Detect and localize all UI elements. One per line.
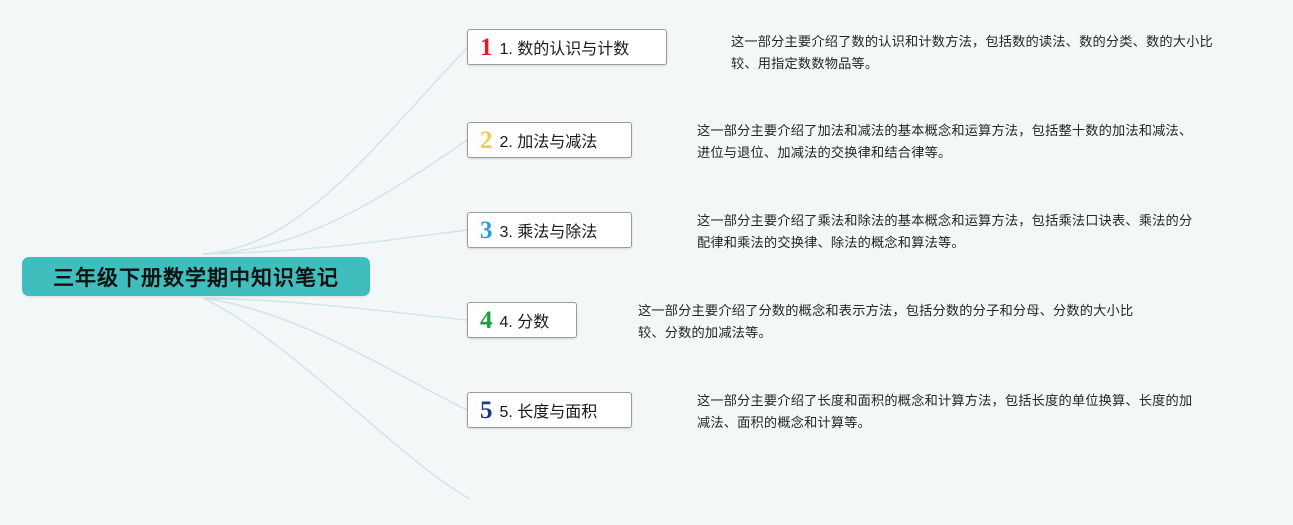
- branch-label-3: 3. 乘法与除法: [500, 218, 598, 242]
- edge-to-branch-6: [203, 298, 470, 499]
- edge-to-branch-1: [203, 48, 467, 254]
- branch-description-1: 这一部分主要介绍了数的认识和计数方法，包括数的读法、数的分类、数的大小比较、用指…: [731, 31, 1236, 75]
- branch-description-4: 这一部分主要介绍了分数的概念和表示方法，包括分数的分子和分母、分数的大小比较、分…: [638, 300, 1138, 344]
- edge-to-branch-3: [203, 230, 467, 254]
- branch-description-5: 这一部分主要介绍了长度和面积的概念和计算方法，包括长度的单位换算、长度的加减法、…: [697, 390, 1197, 434]
- branch-number-4: 4: [480, 308, 493, 333]
- branch-node-3[interactable]: 3 3. 乘法与除法: [467, 212, 632, 248]
- branch-node-2[interactable]: 2 2. 加法与减法: [467, 122, 632, 158]
- edge-to-branch-2: [203, 140, 467, 254]
- branch-node-1[interactable]: 1 1. 数的认识与计数: [467, 29, 667, 65]
- root-node[interactable]: 三年级下册数学期中知识笔记: [22, 257, 370, 296]
- branch-label-1: 1. 数的认识与计数: [500, 35, 630, 59]
- branch-number-5: 5: [480, 398, 493, 423]
- branch-label-4: 4. 分数: [500, 308, 550, 332]
- branch-label-2: 2. 加法与减法: [500, 128, 598, 152]
- root-node-label: 三年级下册数学期中知识笔记: [53, 262, 339, 292]
- branch-number-1: 1: [480, 35, 493, 60]
- branch-label-5: 5. 长度与面积: [500, 398, 598, 422]
- branch-description-3: 这一部分主要介绍了乘法和除法的基本概念和运算方法，包括乘法口诀表、乘法的分配律和…: [697, 210, 1202, 254]
- branch-node-5[interactable]: 5 5. 长度与面积: [467, 392, 632, 428]
- branch-number-2: 2: [480, 128, 493, 153]
- branch-number-3: 3: [480, 218, 493, 243]
- edge-to-branch-5: [203, 298, 467, 410]
- branch-description-2: 这一部分主要介绍了加法和减法的基本概念和运算方法，包括整十数的加法和减法、进位与…: [697, 120, 1204, 164]
- mindmap-canvas: 三年级下册数学期中知识笔记 1 1. 数的认识与计数 这一部分主要介绍了数的认识…: [0, 0, 1293, 525]
- branch-node-4[interactable]: 4 4. 分数: [467, 302, 577, 338]
- edge-to-branch-4: [203, 298, 467, 320]
